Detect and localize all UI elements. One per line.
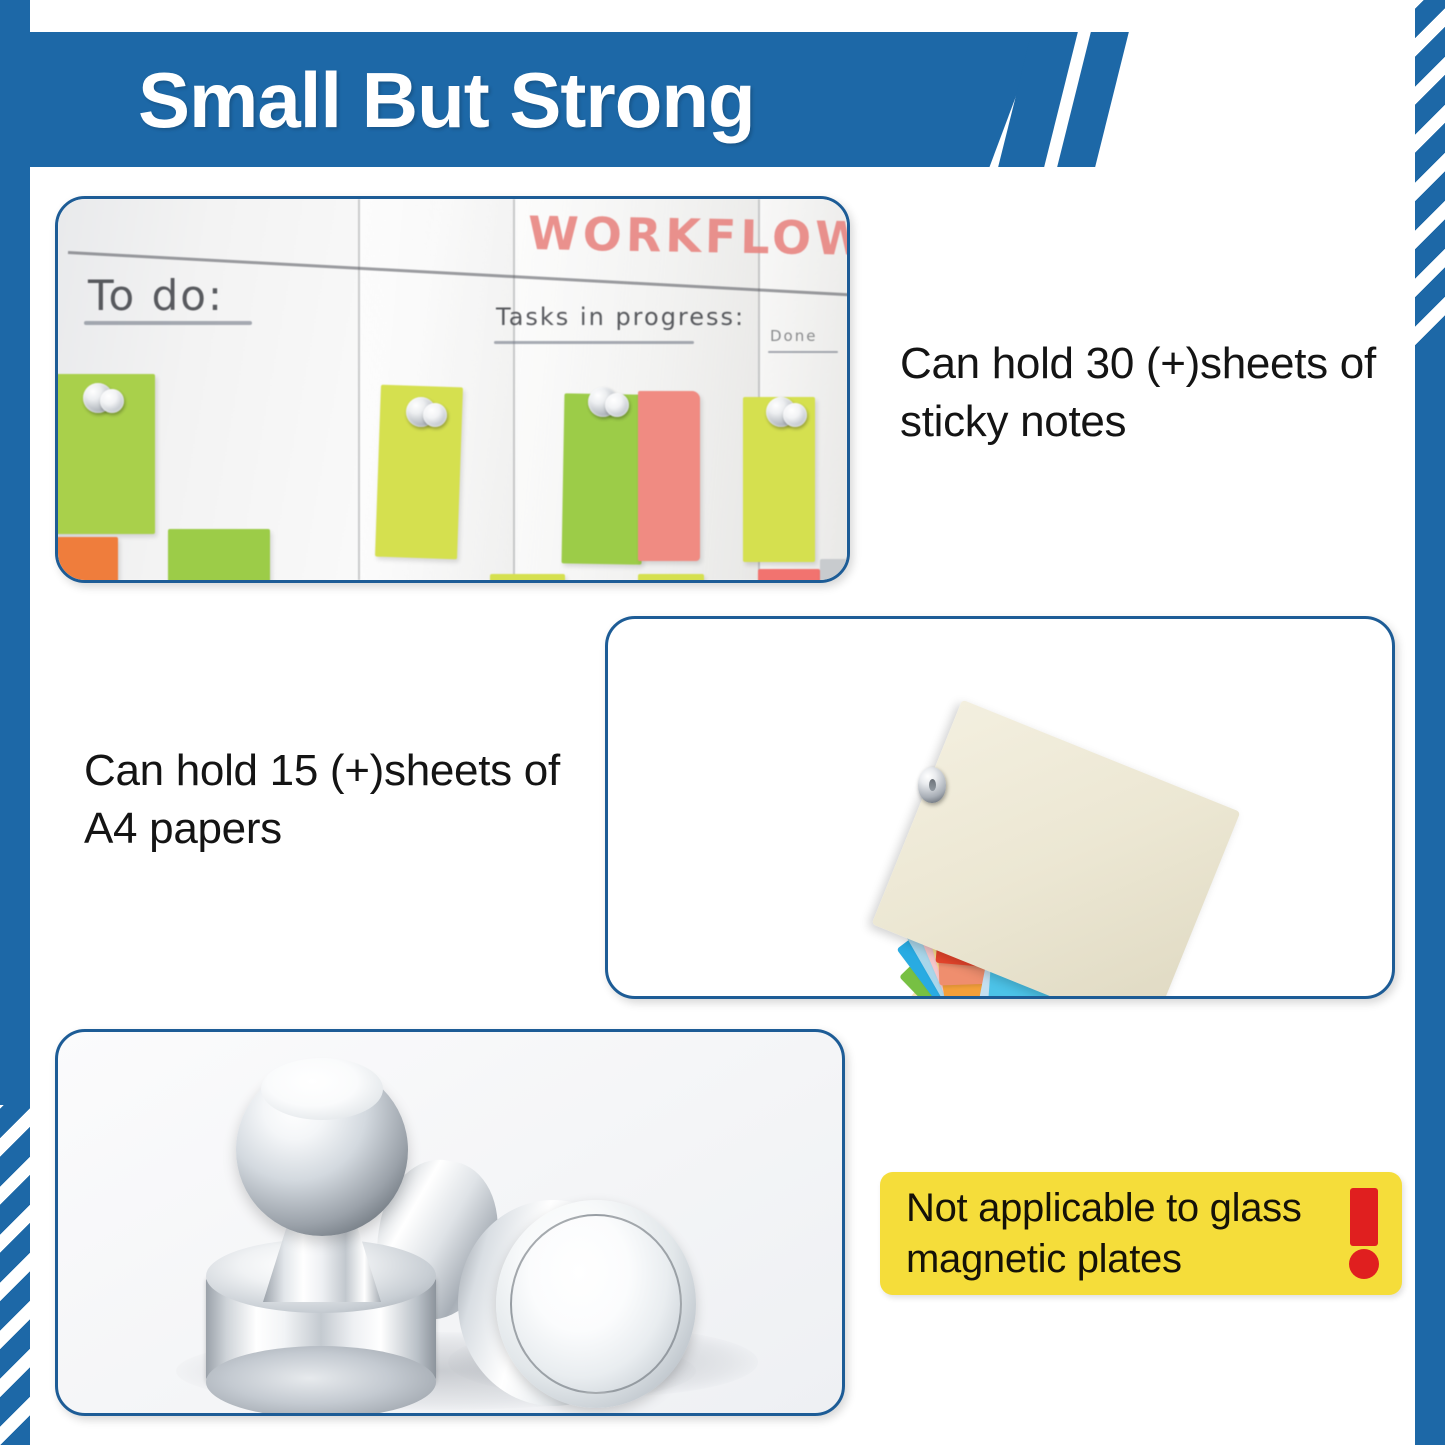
whiteboard-text-done: Done [770,327,817,345]
whiteboard-text-workflow: WORKFLOW [528,206,850,266]
magnet-on-board [766,395,810,435]
magnet-on-board [83,381,127,421]
magnet-disc [605,393,629,417]
sticky-note [55,537,118,583]
photo-whiteboard-sticky-notes: To do: WORKFLOW Tasks in progress: Done [55,196,850,583]
sticky-note [638,574,704,583]
right-border-band [1415,0,1445,1445]
whiteboard-text-todo: To do: [88,271,224,320]
sticky-note [820,559,850,583]
left-border-band [0,0,30,1445]
header-banner: Small But Strong [30,32,1075,167]
whiteboard-text-tasks-in-progress: Tasks in progress: [496,303,745,331]
photo-silver-magnets [55,1029,845,1416]
page-title: Small But Strong [138,61,755,139]
exclamation-icon [1342,1188,1388,1280]
whiteboard-underline-tasks [494,341,694,344]
warning-box: Not applicable to glass magnetic plates [880,1172,1402,1295]
left-border-solid-segment [0,0,30,1105]
infographic-page: Small But Strong To do: WORKFLOW Tasks i… [0,0,1445,1445]
exclamation-bar [1350,1188,1378,1246]
magnet-pin-base-bottom [206,1346,436,1416]
magnet-disc [100,389,124,413]
caption-a4-papers: Can hold 15 (+)sheets of A4 papers [84,742,584,858]
magnet-disc [423,403,447,427]
whiteboard-underline-todo [84,321,252,325]
sticky-note [758,569,820,583]
magnet-on-board [588,385,632,425]
magnet-disc [783,403,807,427]
left-border-striped-segment [0,1105,30,1445]
right-border-striped-segment [1415,0,1445,345]
sticky-note [168,529,270,583]
magnet-disc-face [510,1214,682,1394]
photo-colored-paper-fan [605,616,1395,999]
magnet-pin-head-top-face [261,1058,383,1120]
sticky-note [490,574,565,583]
magnet-pin-icon [918,767,946,803]
whiteboard-underline-done [768,351,838,353]
paper-fan [938,811,939,812]
magnet-product-scene [58,1032,842,1413]
warning-text: Not applicable to glass magnetic plates [906,1183,1336,1284]
whiteboard-surface: To do: WORKFLOW Tasks in progress: Done [58,199,847,580]
right-border-solid-segment [1415,345,1445,1445]
sticky-note [638,391,700,561]
exclamation-dot [1349,1249,1379,1279]
magnet-on-board [406,395,450,435]
caption-sticky-notes: Can hold 30 (+)sheets of sticky notes [900,335,1400,451]
